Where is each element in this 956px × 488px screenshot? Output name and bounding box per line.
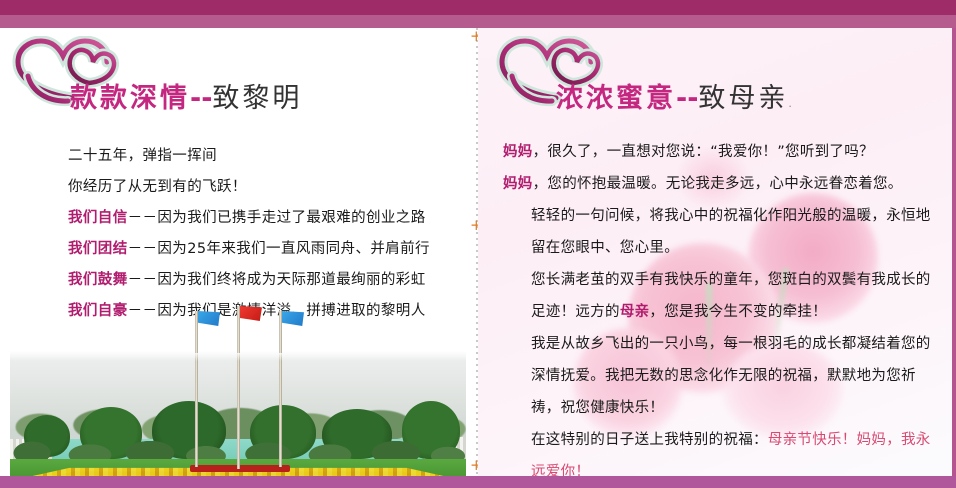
paragraph-text: 在这特别的日子送上我特别的祝福： [531,432,768,448]
line-lead: 我们自信 [68,210,128,226]
flagpole-upper-left [195,311,198,353]
paragraph-emphasis: 妈妈 [503,176,533,192]
paragraph-emphasis: 妈妈 [503,144,533,160]
paragraph-text: 轻轻的一句问候，将我心中的祝福化作阳光般的温暖，永恒地留在您眼中、您心里。 [531,208,931,256]
paragraph: 轻轻的一句问候，将我心中的祝福化作阳光般的温暖，永恒地留在您眼中、您心里。 [503,200,941,264]
line-rest: －－因为我们是激情洋溢、拼搏进取的黎明人 [128,303,426,319]
right-article-panel: 浓浓蜜意--致母亲. 妈妈，很久了，一直想对您说：“我爱你！”您听到了吗？ 妈妈… [478,28,956,476]
line-rest: 二十五年，弹指一挥间 [68,148,217,164]
paragraph: 妈妈，您的怀抱最温暖。无论我走多远，心中永远眷恋着您。 [503,168,941,200]
right-title-tail: . [788,97,792,110]
flagpole-upper-center [237,306,240,353]
line-lead: 我们团结 [68,241,128,257]
top-decorative-bar-dark [0,0,956,15]
flagpole-upper-right [279,311,282,353]
park-lawn-photo [10,351,466,476]
right-body-text: 妈妈，很久了，一直想对您说：“我爱你！”您听到了吗？ 妈妈，您的怀抱最温暖。无论… [503,136,941,476]
paragraph: 我是从故乡飞出的一只小鸟，每一根羽毛的成长都凝结着您的深情抚爱。我把无数的思念化… [503,328,941,424]
left-title-sub: 致黎明 [212,83,302,114]
paragraph-text: ，很久了，一直想对您说：“我爱你！”您听到了吗？ [533,144,874,160]
paragraph-text: ，您是我今生不变的牵挂！ [649,304,827,320]
right-panel-title: 浓浓蜜意--致母亲. [556,76,792,115]
body-line: 我们鼓舞－－因为我们终将成为天际那道最绚丽的彩虹 [68,265,458,296]
photo-flagpole [279,351,282,467]
photo-flagpole [195,351,198,467]
paragraph-text: 我是从故乡飞出的一只小鸟，每一根羽毛的成长都凝结着您的深情抚爱。我把无数的思念化… [531,336,931,416]
body-line: 二十五年，弹指一挥间 [68,141,458,172]
paragraph-text: ，您的怀抱最温暖。无论我走多远，心中永远眷恋着您。 [533,176,903,192]
page-body: 款款深情--致黎明 二十五年，弹指一挥间 你经历了从无到有的飞跃！ 我们自信－－… [0,28,956,476]
line-rest: －－因为我们终将成为天际那道最绚丽的彩虹 [128,272,426,288]
line-lead: 我们自豪 [68,303,128,319]
right-title-dash: -- [676,83,698,114]
left-panel-title: 款款深情--致黎明 [70,76,302,115]
photo-red-flowers [190,465,290,472]
line-rest: 你经历了从无到有的飞跃！ [68,179,247,195]
body-line: 我们团结－－因为25年来我们一直风雨同舟、并肩前行 [68,234,458,265]
line-rest: －－因为25年来我们一直风雨同舟、并肩前行 [128,241,430,257]
right-title-sub: 致母亲 [698,83,788,114]
left-title-dash: -- [190,83,212,114]
left-title-main: 款款深情 [70,83,190,114]
paragraph: 在这特别的日子送上我特别的祝福：母亲节快乐！妈妈，我永远爱你！ [503,424,941,476]
photo-flagpole [237,351,240,469]
paragraph: 您长满老茧的双手有我快乐的童年，您斑白的双鬓有我成长的足迹！远方的母亲，您是我今… [503,264,941,328]
paragraph: 妈妈，很久了，一直想对您说：“我爱你！”您听到了吗？ [503,136,941,168]
line-lead: 我们鼓舞 [68,272,128,288]
paragraph-emphasis: 母亲 [620,304,650,320]
bottom-decorative-bar [0,476,956,488]
left-article-panel: 款款深情--致黎明 二十五年，弹指一挥间 你经历了从无到有的飞跃！ 我们自信－－… [0,28,472,476]
right-title-main: 浓浓蜜意 [556,83,676,114]
line-rest: －－因为我们已携手走过了最艰难的创业之路 [128,210,426,226]
left-body-text: 二十五年，弹指一挥间 你经历了从无到有的飞跃！ 我们自信－－因为我们已携手走过了… [68,141,458,327]
body-line: 我们自信－－因为我们已携手走过了最艰难的创业之路 [68,203,458,234]
body-line: 我们自豪－－因为我们是激情洋溢、拼搏进取的黎明人 [68,296,458,327]
body-line: 你经历了从无到有的飞跃！ [68,172,458,203]
